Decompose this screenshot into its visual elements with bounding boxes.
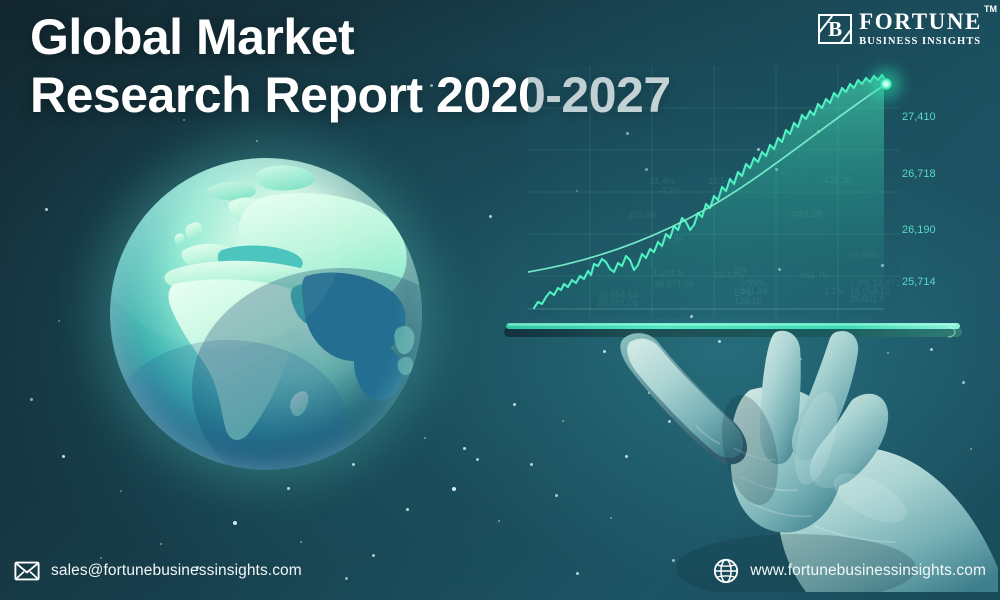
banner-canvas: Global Market Research Report 2020-2027 …	[0, 0, 1000, 600]
svg-text:-0.2%: -0.2%	[658, 186, 682, 196]
logo-mark-glyph: B	[828, 19, 842, 40]
earth-globe-europe-africa-icon	[110, 158, 422, 470]
globe-rim-glow	[110, 158, 422, 470]
svg-text:259.46: 259.46	[628, 210, 656, 220]
axis-tick-2: 26,190	[902, 225, 936, 236]
axis-tick-3: 25,714	[902, 277, 936, 288]
hand-holding-tablet-icon	[600, 330, 1000, 592]
axis-tick-1: 26,718	[902, 169, 936, 180]
chart-svg: 259.46 128.04 1,204.6 36,071.66 26,554.5…	[528, 66, 900, 318]
trademark-symbol: TM	[984, 5, 997, 14]
title-line-1: Global Market	[30, 9, 354, 65]
logo-tagline: BUSINESS INSIGHTS	[859, 37, 982, 48]
market-growth-chart: 259.46 128.04 1,204.6 36,071.66 26,554.5…	[528, 66, 900, 318]
fortune-b-mark-icon: B	[818, 14, 852, 44]
email-text: sales@fortunebusinessinsights.com	[51, 562, 302, 580]
brand-logo[interactable]: B FORTUNE TM BUSINESS INSIGHTS	[818, 8, 982, 50]
envelope-icon	[14, 558, 40, 584]
logo-wordmark: FORTUNE TM BUSINESS INSIGHTS	[859, 10, 982, 48]
footer-email[interactable]: sales@fortunebusinessinsights.com	[14, 558, 302, 584]
logo-name: FORTUNE	[859, 9, 982, 34]
logo-name-row: FORTUNE TM	[859, 10, 982, 33]
footer-website[interactable]: www.fortunebusinessinsights.com	[713, 558, 986, 584]
axis-tick-0: 27,410	[902, 112, 936, 123]
hand-svg	[600, 330, 1000, 592]
glowing-data-point-icon	[879, 77, 893, 91]
website-text: www.fortunebusinessinsights.com	[750, 562, 986, 580]
globe-icon	[713, 558, 739, 584]
svg-text:11.4%: 11.4%	[650, 176, 675, 186]
